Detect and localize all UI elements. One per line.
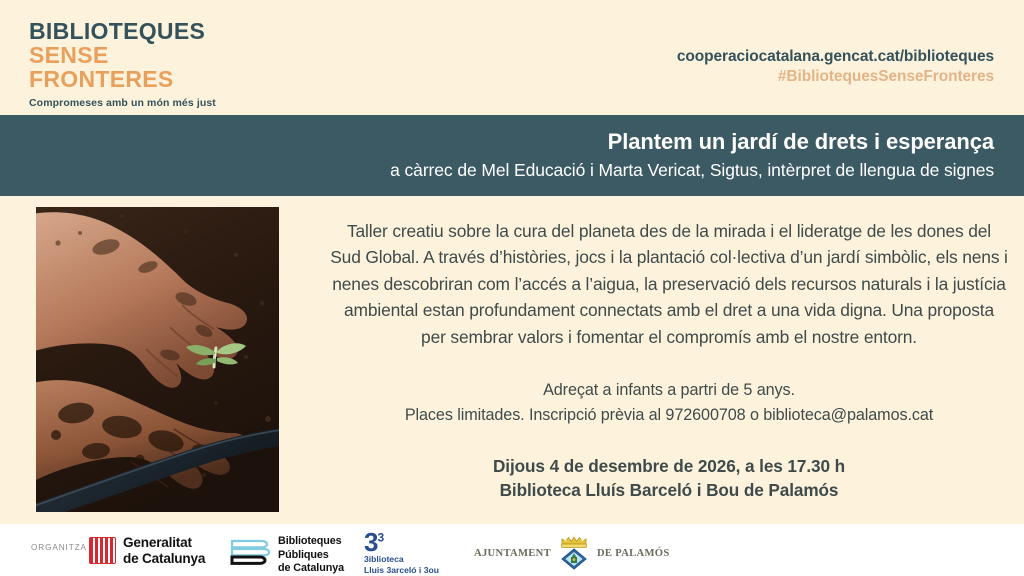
event-photo <box>36 207 279 512</box>
senyera-flag-icon <box>89 537 116 564</box>
header-contact-block: cooperaciocatalana.gencat.cat/bibliotequ… <box>677 47 994 87</box>
bllb-line2: Lluis 3arceló i 3ou <box>364 565 439 576</box>
bpc-line1: Biblioteques <box>278 535 344 549</box>
event-presenters: a càrrec de Mel Educació i Marta Vericat… <box>390 158 994 183</box>
ajuntament-word-right: DE PALAMÓS <box>597 548 670 559</box>
title-band: Plantem un jardí de drets i esperança a … <box>0 115 1024 196</box>
event-when-where: Dijous 4 de desembre de 2026, a les 17.3… <box>330 454 1008 503</box>
logo-biblioteca-lluis-barcelo-i-bou: 33 3iblioteca Lluis 3arceló i 3ou <box>364 531 439 576</box>
website-url[interactable]: cooperaciocatalana.gencat.cat/bibliotequ… <box>677 47 994 67</box>
logo-biblioteques-publiques: Biblioteques Públiques de Catalunya <box>230 535 344 576</box>
brand-line-sense: SENSE <box>29 44 216 67</box>
event-title: Plantem un jardí de drets i esperança <box>608 128 994 157</box>
bpc-wordmark: Biblioteques Públiques de Catalunya <box>278 535 344 576</box>
brand-line-biblioteques: BIBLIOTEQUES <box>29 20 216 43</box>
bpc-line2: Públiques <box>278 549 344 563</box>
organisation-logo: BIBLIOTEQUES SENSE FRONTERES Compromeses… <box>29 20 216 109</box>
event-text-column: Taller creatiu sobre la cura del planeta… <box>330 218 1008 502</box>
ajuntament-word-left: AJUNTAMENT <box>474 548 551 559</box>
books-glyph <box>230 538 272 568</box>
notes-registration: Places limitades. Inscripció prèvia al 9… <box>330 403 1008 428</box>
photo-illustration <box>36 207 279 512</box>
logo-ajuntament-de-palamos: AJUNTAMENT DE PALAMÓS <box>474 532 670 575</box>
poster-root: BIBLIOTEQUES SENSE FRONTERES Compromeses… <box>0 0 1024 576</box>
generalitat-line2: de Catalunya <box>123 551 205 567</box>
notes-age: Adreçat a infants a partri de 5 anys. <box>330 378 1008 403</box>
brand-tagline: Compromeses amb un món més just <box>29 98 216 109</box>
bpc-line3: de Catalunya <box>278 562 344 576</box>
organitza-label: ORGANITZA <box>31 543 87 552</box>
generalitat-wordmark: Generalitat de Catalunya <box>123 535 205 567</box>
event-venue: Biblioteca Lluís Barceló i Bou de Palamó… <box>330 478 1008 502</box>
campaign-hashtag: #BibliotequesSenseFronteres <box>677 67 994 87</box>
bllb-mark-superscript: 3 <box>377 530 383 544</box>
palamos-crest-glyph <box>556 532 592 570</box>
bllb-monogram: 33 <box>364 531 439 553</box>
poster-footer: ORGANITZA Generalitat de Catalunya Bibli… <box>0 524 1024 576</box>
event-description: Taller creatiu sobre la cura del planeta… <box>330 218 1008 350</box>
poster-header: BIBLIOTEQUES SENSE FRONTERES Compromeses… <box>0 0 1024 115</box>
bllb-wordmark: 3iblioteca Lluis 3arceló i 3ou <box>364 554 439 576</box>
event-datetime: Dijous 4 de desembre de 2026, a les 17.3… <box>330 454 1008 478</box>
logo-generalitat-de-catalunya: Generalitat de Catalunya <box>89 535 205 567</box>
generalitat-line1: Generalitat <box>123 535 205 551</box>
bllb-mark-glyph: 3 <box>364 527 377 557</box>
stacked-books-icon <box>230 538 272 573</box>
event-notes: Adreçat a infants a partri de 5 anys. Pl… <box>330 378 1008 427</box>
palamos-coat-of-arms-icon <box>556 532 592 575</box>
bllb-line1: 3iblioteca <box>364 554 439 565</box>
brand-line-fronteres: FRONTERES <box>29 68 216 91</box>
poster-main: Taller creatiu sobre la cura del planeta… <box>0 196 1024 524</box>
